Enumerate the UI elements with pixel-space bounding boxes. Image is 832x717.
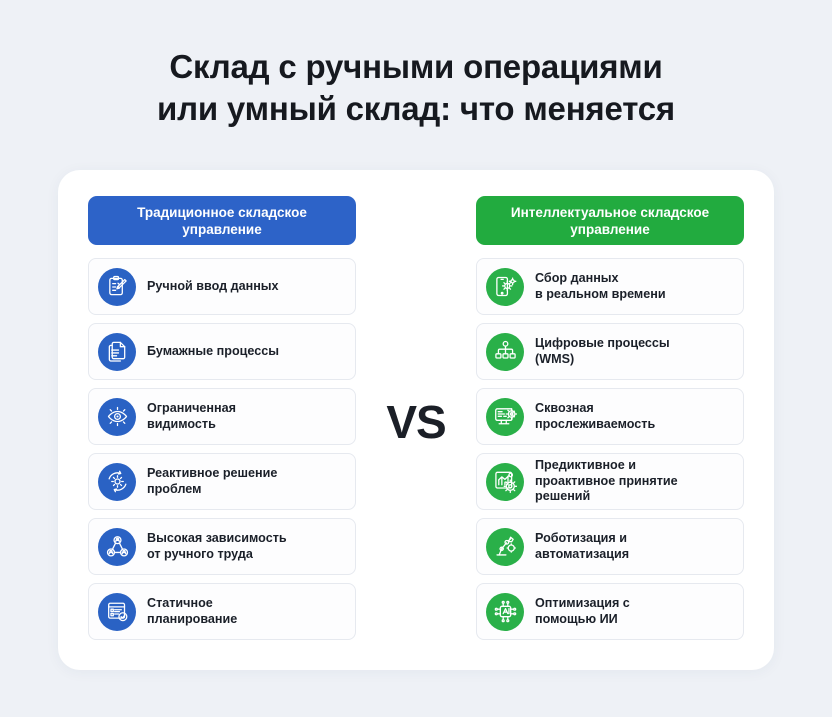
page-title: Склад с ручными операциями или умный скл… xyxy=(0,0,832,130)
list-item[interactable]: Сбор данных в реальном времени xyxy=(476,258,744,315)
clipboard-pen-icon xyxy=(98,268,136,306)
list-item-label: Сбор данных в реальном времени xyxy=(535,271,666,303)
items-smart: Сбор данных в реальном времени xyxy=(476,258,744,640)
column-header-traditional: Традиционное складское управление xyxy=(88,196,356,245)
list-item[interactable]: Высокая зависимость от ручного труда xyxy=(88,518,356,575)
mobile-gears-icon xyxy=(486,268,524,306)
list-item[interactable]: Статичное планирование xyxy=(88,583,356,640)
list-item[interactable]: Реактивное решение проблем xyxy=(88,453,356,510)
checklist-check-icon xyxy=(98,593,136,631)
column-header-smart: Интеллектуальное складское управление xyxy=(476,196,744,245)
infographic-root: Склад с ручными операциями или умный скл… xyxy=(0,0,832,717)
hierarchy-icon xyxy=(486,333,524,371)
list-item[interactable]: Бумажные процессы xyxy=(88,323,356,380)
list-item-label: Высокая зависимость от ручного труда xyxy=(147,531,287,563)
ai-chip-icon xyxy=(486,593,524,631)
list-item[interactable]: Ограниченная видимость xyxy=(88,388,356,445)
comparison-panel: Традиционное складское управление xyxy=(58,170,774,670)
column-smart: Интеллектуальное складское управление xyxy=(476,196,744,640)
list-item[interactable]: Предиктивное и проактивное принятие реше… xyxy=(476,453,744,510)
title-line-1: Склад с ручными операциями xyxy=(0,46,832,88)
list-item[interactable]: Сквозная прослеживаемость xyxy=(476,388,744,445)
list-item[interactable]: Роботизация и автоматизация xyxy=(476,518,744,575)
gear-refresh-icon xyxy=(98,463,136,501)
list-item-label: Ручной ввод данных xyxy=(147,279,279,295)
people-network-icon xyxy=(98,528,136,566)
list-item-label: Статичное планирование xyxy=(147,596,237,628)
list-item-label: Бумажные процессы xyxy=(147,344,279,360)
items-traditional: Ручной ввод данных Бумажные процессы xyxy=(88,258,356,640)
list-item-label: Оптимизация с помощью ИИ xyxy=(535,596,630,628)
robot-arm-icon xyxy=(486,528,524,566)
list-item-label: Реактивное решение проблем xyxy=(147,466,277,498)
list-item-label: Сквозная прослеживаемость xyxy=(535,401,655,433)
list-item-label: Ограниченная видимость xyxy=(147,401,236,433)
list-item[interactable]: Ручной ввод данных xyxy=(88,258,356,315)
list-item-label: Цифровые процессы (WMS) xyxy=(535,336,670,368)
column-traditional: Традиционное складское управление xyxy=(88,196,356,640)
documents-icon xyxy=(98,333,136,371)
chart-gear-icon xyxy=(486,463,524,501)
list-item-label: Роботизация и автоматизация xyxy=(535,531,629,563)
list-item[interactable]: Оптимизация с помощью ИИ xyxy=(476,583,744,640)
title-line-2: или умный склад: что меняется xyxy=(0,88,832,130)
list-item-label: Предиктивное и проактивное принятие реше… xyxy=(535,458,678,506)
eye-icon xyxy=(98,398,136,436)
list-item[interactable]: Цифровые процессы (WMS) xyxy=(476,323,744,380)
comparison-columns: Традиционное складское управление xyxy=(58,170,774,670)
monitor-gear-icon xyxy=(486,398,524,436)
